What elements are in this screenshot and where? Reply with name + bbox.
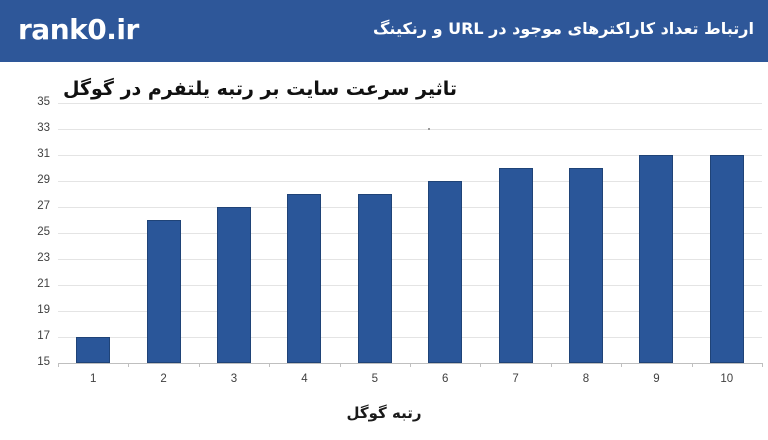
header-title: ارتباط تعداد کاراکترهای موجود در URL و ر… [373,19,754,38]
bar[interactable] [639,155,673,363]
y-tick-label: 17 [20,331,50,343]
bar[interactable] [428,181,462,363]
x-tick-label: 7 [496,373,536,385]
x-tick-mark [692,363,693,367]
x-tick-label: 8 [566,373,606,385]
x-tick-mark [410,363,411,367]
x-tick-label: 10 [707,373,747,385]
x-tick-mark [128,363,129,367]
x-tick-mark [269,363,270,367]
y-tick-label: 31 [20,149,50,161]
y-tick-label: 25 [20,227,50,239]
x-tick-label: 2 [144,373,184,385]
y-tick-label: 19 [20,305,50,317]
bar[interactable] [147,220,181,363]
y-tick-label: 33 [20,123,50,135]
brand-logo[interactable]: rank0.ir [18,13,139,46]
bar[interactable] [710,155,744,363]
x-tick-mark [762,363,763,367]
x-tick-mark [58,363,59,367]
x-tick-mark [340,363,341,367]
bar[interactable] [287,194,321,363]
x-tick-label: 4 [284,373,324,385]
y-tick-label: 27 [20,201,50,213]
gridline [58,103,762,104]
x-axis-title: رتبه گوگل [0,404,768,422]
x-tick-label: 9 [636,373,676,385]
x-tick-label: 6 [425,373,465,385]
bar[interactable] [569,168,603,363]
x-tick-mark [480,363,481,367]
bar[interactable] [499,168,533,363]
y-tick-label: 21 [20,279,50,291]
x-tick-mark [621,363,622,367]
chart-card: تاثیر سرعت سایت بر رتبه یلتفرم در گوگل 1… [0,62,768,440]
plot-area: 12345678910 [58,103,762,363]
bar[interactable] [358,194,392,363]
x-tick-label: 5 [355,373,395,385]
gridline [58,129,762,130]
x-tick-mark [199,363,200,367]
site-header: rank0.ir ارتباط تعداد کاراکترهای موجود د… [0,0,768,62]
bar[interactable] [76,337,110,363]
y-tick-label: 29 [20,175,50,187]
y-tick-label: 35 [20,97,50,109]
chart-title: تاثیر سرعت سایت بر رتبه یلتفرم در گوگل [0,78,520,100]
stray-mark [428,128,430,130]
y-tick-label: 15 [20,357,50,369]
bar[interactable] [217,207,251,363]
x-tick-label: 3 [214,373,254,385]
y-tick-label: 23 [20,253,50,265]
x-tick-label: 1 [73,373,113,385]
x-tick-mark [551,363,552,367]
